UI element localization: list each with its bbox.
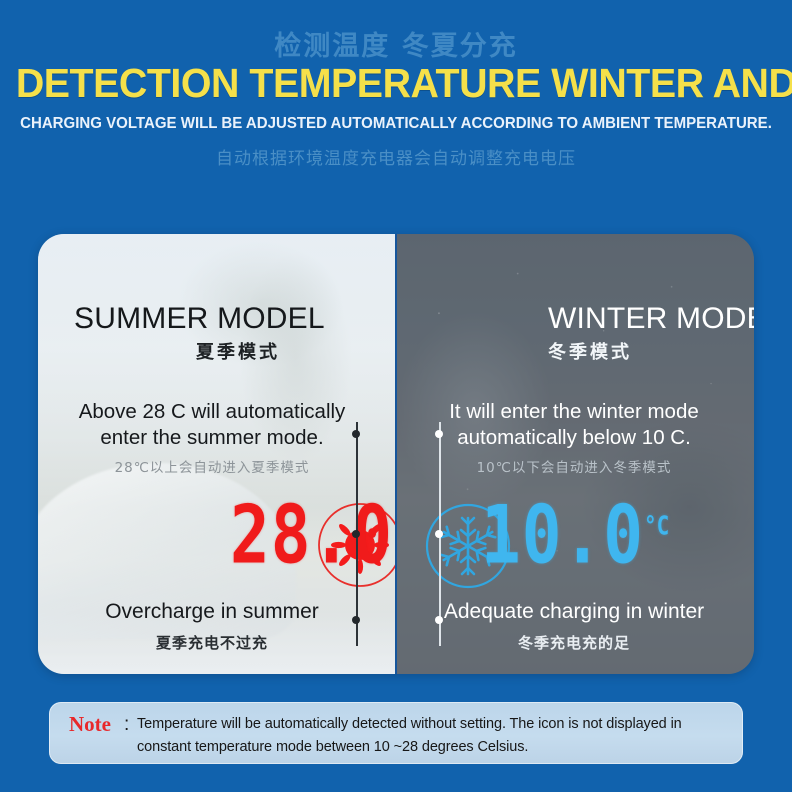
header-chinese-title: 检测温度 冬夏分充 xyxy=(0,24,792,63)
summer-benefit: Overcharge in summer xyxy=(38,600,386,624)
header: 检测温度 冬夏分充 DETECTION TEMPERATURE WINTER A… xyxy=(0,0,792,190)
summer-benefit-chinese: 夏季充电不过充 xyxy=(38,632,386,653)
winter-timeline-dot xyxy=(435,430,443,438)
summer-description-line2: enter the summer mode. xyxy=(38,426,386,450)
summer-description-chinese: 28℃以上会自动进入夏季模式 xyxy=(38,456,386,476)
note-label: Note xyxy=(69,712,111,737)
note-colon: : xyxy=(124,714,129,736)
summer-panel: SUMMER MODEL 夏季模式 xyxy=(38,234,396,674)
summer-timeline-dot xyxy=(352,616,360,624)
winter-temperature-display: 10.0°C xyxy=(481,488,669,582)
winter-description-line1: It will enter the winter mode xyxy=(396,400,752,424)
winter-benefit: Adequate charging in winter xyxy=(396,600,752,624)
header-english-subtitle: CHARGING VOLTAGE WILL BE ADJUSTED AUTOMA… xyxy=(12,115,780,133)
winter-temperature-unit: °C xyxy=(644,511,669,540)
summer-description-line1: Above 28 C will automatically xyxy=(38,400,386,424)
winter-description-chinese: 10℃以下会自动进入冬季模式 xyxy=(396,456,752,476)
page-title: DETECTION TEMPERATURE WINTER AND SUMMER xyxy=(16,60,776,107)
note-line2: constant temperature mode between 10 ~28… xyxy=(137,739,528,755)
panel-divider xyxy=(395,234,397,674)
summer-title: SUMMER MODEL xyxy=(74,302,325,336)
winter-description-line2: automatically below 10 C. xyxy=(396,426,752,450)
winter-timeline-dot xyxy=(435,616,443,624)
poster-root: 检测温度 冬夏分充 DETECTION TEMPERATURE WINTER A… xyxy=(0,0,792,792)
header-chinese-subtitle: 自动根据环境温度充电器会自动调整充电电压 xyxy=(0,144,792,169)
note-line1: Temperature will be automatically detect… xyxy=(137,716,682,732)
note-box: Note : Temperature will be automatically… xyxy=(49,702,743,764)
summer-temperature-display: 28.0°C xyxy=(230,488,396,582)
summer-title-chinese: 夏季模式 xyxy=(196,338,280,364)
winter-benefit-chinese: 冬季充电充的足 xyxy=(396,632,752,653)
summer-timeline-dot xyxy=(352,530,360,538)
comparison-card: SUMMER MODEL 夏季模式 xyxy=(38,234,754,674)
summer-temperature-value: 28.0 xyxy=(230,488,393,582)
summer-timeline-dot xyxy=(352,430,360,438)
winter-timeline-dot xyxy=(435,530,443,538)
winter-temperature-value: 10.0 xyxy=(481,488,644,582)
winter-title: WINTER MODEL xyxy=(548,302,754,336)
winter-title-chinese: 冬季模式 xyxy=(548,338,632,364)
winter-panel: WINTER MODEL 冬季模式 xyxy=(396,234,754,674)
